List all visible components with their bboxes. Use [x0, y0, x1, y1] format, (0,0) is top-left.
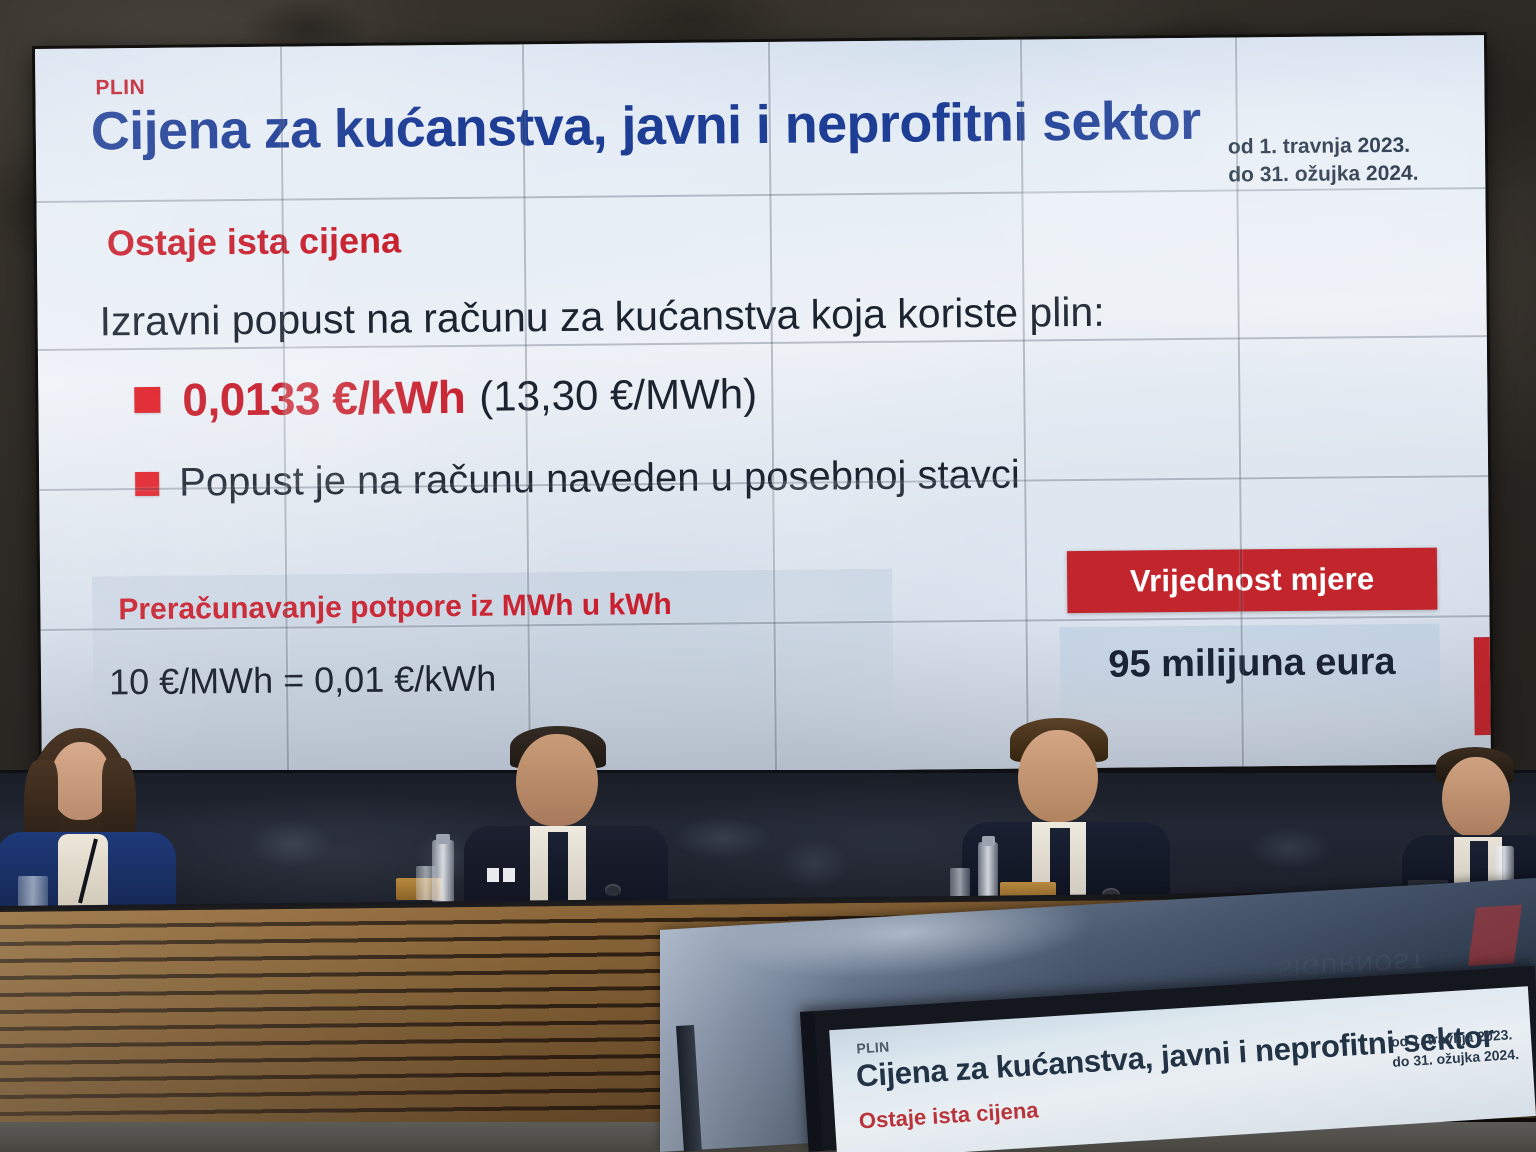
measure-badge-label: Vrijednost mjere	[1130, 561, 1375, 599]
monitor-subhead: Ostaje ista cijena	[858, 1097, 1039, 1134]
slide-eyebrow: PLIN	[95, 76, 145, 100]
bullet-item-discount: 0,0133 €/kWh (13,30 €/MWh)	[134, 367, 757, 427]
slide-subhead: Ostaje ista cijena	[107, 219, 402, 264]
control-puck-center	[605, 884, 621, 896]
video-wall-display[interactable]: PLIN Cijena za kućanstva, javni i neprof…	[35, 35, 1491, 778]
conversion-heading: Preračunavanje potpore iz MWh u kWh	[118, 588, 672, 627]
water-bottle-right	[978, 842, 998, 902]
necktie	[548, 832, 568, 910]
bottle-cap-center	[436, 834, 450, 844]
head	[1442, 757, 1510, 837]
water-glass-center	[416, 866, 436, 900]
slide-lead-text: Izravni popust na računu za kućanstva ko…	[99, 289, 1104, 346]
measure-value-badge: Vrijednost mjere	[1067, 548, 1438, 614]
measure-amount: 95 milijuna eura	[1072, 641, 1432, 687]
head	[516, 734, 598, 826]
date-to: do 31. ožujka 2024.	[1228, 159, 1463, 189]
monitor-date-range: od 1. travnja 2023. do 31. ožujka 2024.	[1390, 1025, 1519, 1072]
discount-rate-value: 0,0133 €/kWh	[182, 370, 465, 427]
head	[1018, 730, 1098, 822]
video-wall-bezel-horizontal	[36, 187, 1485, 203]
monitor-eyebrow: PLIN	[856, 1038, 890, 1056]
slide-title: Cijena za kućanstva, javni i neprofitni …	[90, 90, 1200, 163]
invoice-note-text: Popust je na računu naveden u posebnoj s…	[179, 453, 1020, 506]
press-conference-scene: PLIN Cijena za kućanstva, javni i neprof…	[0, 0, 1536, 1152]
blouse	[58, 834, 108, 914]
bottle-cap-right	[982, 836, 995, 846]
bullet-square-icon	[135, 471, 159, 495]
conversion-value: 10 €/MWh = 0,01 €/kWh	[109, 658, 497, 704]
microphone-center	[487, 868, 499, 882]
glass-red-reflection	[1468, 905, 1522, 966]
microphone-center-2	[503, 868, 515, 882]
date-from: od 1. travnja 2023.	[1228, 131, 1463, 161]
presentation-slide: PLIN Cijena za kućanstva, javni i neprof…	[35, 35, 1491, 778]
slide-date-range: od 1. travnja 2023. do 31. ožujka 2024.	[1228, 131, 1464, 189]
panelist-man-center-left	[478, 722, 654, 912]
discount-rate-alt: (13,30 €/MWh)	[479, 370, 757, 421]
bullet-item-invoice-note: Popust je na računu naveden u posebnoj s…	[135, 453, 1020, 506]
bullet-square-icon	[134, 387, 160, 413]
slide-right-accent-bar	[1474, 637, 1491, 735]
